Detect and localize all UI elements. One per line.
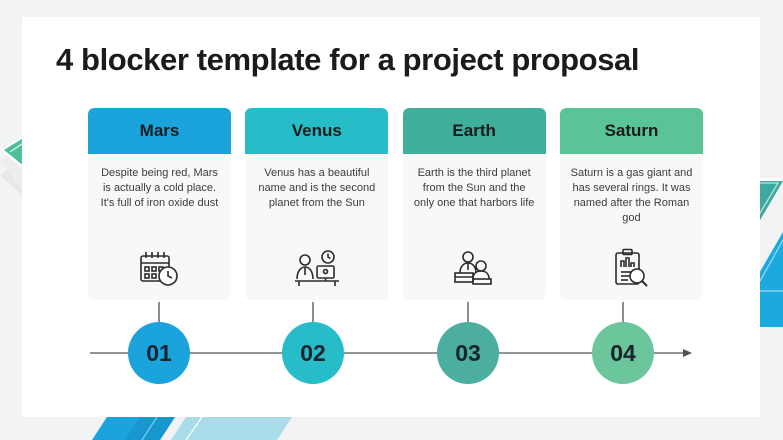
bottom-lightblue-shape bbox=[171, 417, 292, 440]
timeline-step-02-label: 02 bbox=[300, 340, 326, 367]
person-desk-clock-icon bbox=[245, 242, 388, 296]
timeline-step-02[interactable]: 02 bbox=[282, 322, 344, 384]
card-body-saturn: Saturn is a gas giant and has several ri… bbox=[560, 154, 703, 242]
card-body-venus: Venus has a beautiful name and is the se… bbox=[245, 154, 388, 242]
page-title: 4 blocker template for a project proposa… bbox=[56, 42, 716, 78]
card-body-earth: Earth is the third planet from the Sun a… bbox=[403, 154, 546, 242]
timeline-step-03[interactable]: 03 bbox=[437, 322, 499, 384]
timeline-step-01[interactable]: 01 bbox=[128, 322, 190, 384]
card-header-saturn: Saturn bbox=[560, 108, 703, 154]
card-title-venus: Venus bbox=[292, 121, 342, 141]
timeline-step-04-label: 04 bbox=[610, 340, 636, 367]
clipboard-magnifier-icon bbox=[560, 242, 703, 296]
card-mars[interactable]: Mars Despite being red, Mars is actually… bbox=[88, 108, 231, 300]
timeline: 01 02 03 04 bbox=[0, 300, 783, 410]
card-title-saturn: Saturn bbox=[605, 121, 659, 141]
slide: 4 blocker template for a project proposa… bbox=[0, 0, 783, 440]
timeline-step-04[interactable]: 04 bbox=[592, 322, 654, 384]
two-people-meeting-icon bbox=[403, 242, 546, 296]
card-header-venus: Venus bbox=[245, 108, 388, 154]
timeline-arrow-icon bbox=[683, 349, 692, 357]
card-body-mars: Despite being red, Mars is actually a co… bbox=[88, 154, 231, 242]
card-header-mars: Mars bbox=[88, 108, 231, 154]
timeline-step-03-label: 03 bbox=[455, 340, 481, 367]
timeline-step-01-label: 01 bbox=[146, 340, 172, 367]
cards-row: Mars Despite being red, Mars is actually… bbox=[88, 108, 703, 300]
timeline-line bbox=[0, 300, 783, 410]
card-earth[interactable]: Earth Earth is the third planet from the… bbox=[403, 108, 546, 300]
card-title-earth: Earth bbox=[452, 121, 495, 141]
card-venus[interactable]: Venus Venus has a beautiful name and is … bbox=[245, 108, 388, 300]
calendar-clock-icon bbox=[88, 242, 231, 296]
card-title-mars: Mars bbox=[140, 121, 180, 141]
card-header-earth: Earth bbox=[403, 108, 546, 154]
card-saturn[interactable]: Saturn Saturn is a gas giant and has sev… bbox=[560, 108, 703, 300]
